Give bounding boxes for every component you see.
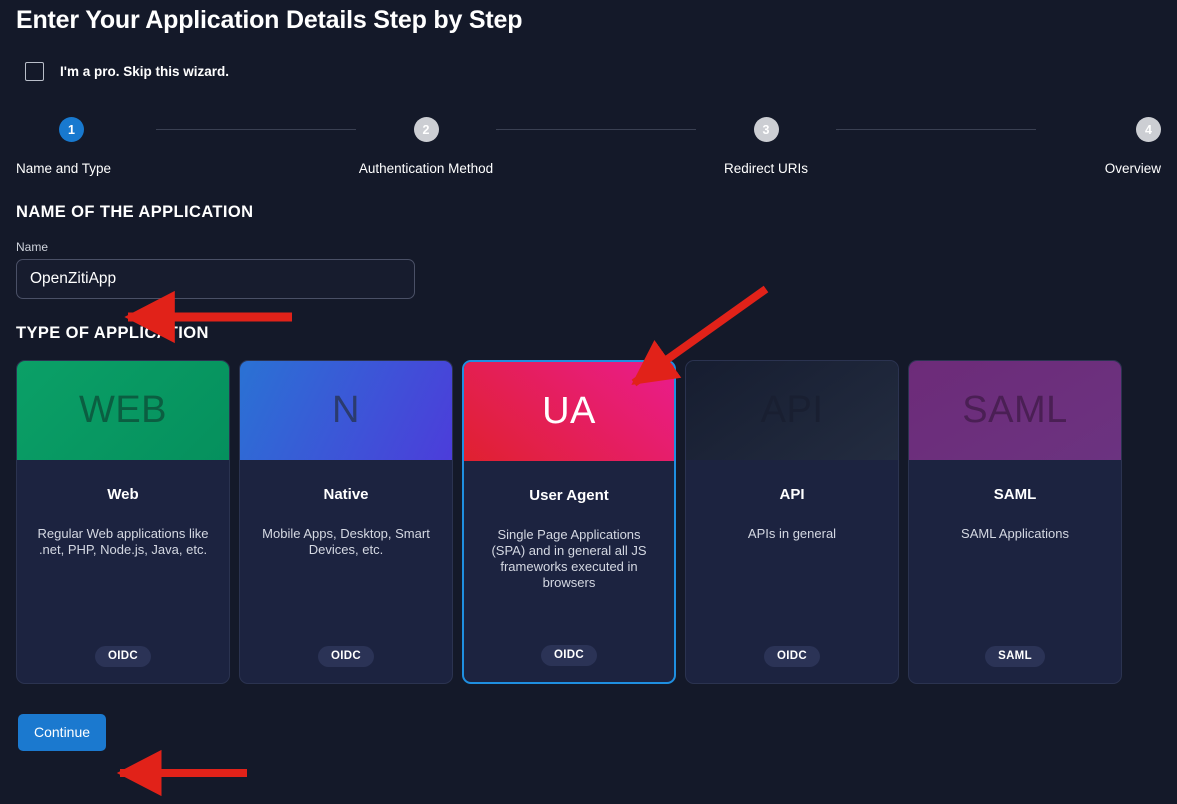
- app-type-card-user-agent[interactable]: UA User Agent Single Page Applications (…: [462, 360, 676, 684]
- step-1-label: Name and Type: [16, 161, 111, 176]
- step-1-bubble[interactable]: 1: [59, 117, 84, 142]
- wizard-page: Enter Your Application Details Step by S…: [0, 0, 1177, 804]
- stepper-connector-1: [156, 129, 356, 130]
- app-type-card-api[interactable]: API API APIs in general OIDC: [685, 360, 899, 684]
- wizard-stepper: 1 Name and Type 2 Authentication Method …: [16, 117, 1161, 185]
- stepper-step-2[interactable]: 2 Authentication Method: [356, 117, 496, 176]
- application-type-card-list: WEB Web Regular Web applications like .n…: [16, 360, 1161, 684]
- name-section-heading: NAME OF THE APPLICATION: [16, 203, 1161, 222]
- user-agent-banner-icon: UA: [464, 362, 674, 461]
- saml-card-title: SAML: [994, 486, 1037, 503]
- app-type-card-saml[interactable]: SAML SAML SAML Applications SAML: [908, 360, 1122, 684]
- api-card-protocol-badge: OIDC: [764, 646, 820, 667]
- continue-button[interactable]: Continue: [18, 714, 106, 751]
- web-banner-icon: WEB: [17, 361, 229, 460]
- stepper-step-4[interactable]: 4 Overview: [1036, 117, 1161, 176]
- saml-card-body: SAML SAML Applications SAML: [909, 460, 1121, 683]
- step-4-label: Overview: [1105, 161, 1161, 176]
- api-card-title: API: [779, 486, 804, 503]
- user-agent-card-body: User Agent Single Page Applications (SPA…: [464, 461, 674, 682]
- stepper-connector-2: [496, 129, 696, 130]
- web-card-title: Web: [107, 486, 138, 503]
- saml-card-description: SAML Applications: [961, 526, 1069, 542]
- saml-banner-icon: SAML: [909, 361, 1121, 460]
- step-4-bubble[interactable]: 4: [1136, 117, 1161, 142]
- web-card-body: Web Regular Web applications like .net, …: [17, 460, 229, 683]
- native-card-protocol-badge: OIDC: [318, 646, 374, 667]
- user-agent-card-description: Single Page Applications (SPA) and in ge…: [479, 527, 659, 591]
- skip-wizard-row: I'm a pro. Skip this wizard.: [25, 62, 1161, 81]
- stepper-track: 1 Name and Type 2 Authentication Method …: [16, 117, 1161, 176]
- stepper-connector-3: [836, 129, 1036, 130]
- skip-wizard-checkbox[interactable]: [25, 62, 44, 81]
- stepper-step-3[interactable]: 3 Redirect URIs: [696, 117, 836, 176]
- app-type-card-native[interactable]: N Native Mobile Apps, Desktop, Smart Dev…: [239, 360, 453, 684]
- api-banner-icon: API: [686, 361, 898, 460]
- name-field-label: Name: [16, 240, 1161, 254]
- native-card-description: Mobile Apps, Desktop, Smart Devices, etc…: [256, 526, 436, 558]
- web-card-protocol-badge: OIDC: [95, 646, 151, 667]
- type-section-heading: TYPE OF APPLICATION: [16, 324, 1161, 343]
- native-banner-icon: N: [240, 361, 452, 460]
- api-card-body: API APIs in general OIDC: [686, 460, 898, 683]
- app-type-card-web[interactable]: WEB Web Regular Web applications like .n…: [16, 360, 230, 684]
- user-agent-card-title: User Agent: [529, 487, 608, 504]
- name-input[interactable]: [16, 259, 415, 299]
- skip-wizard-label[interactable]: I'm a pro. Skip this wizard.: [60, 64, 229, 79]
- saml-card-protocol-badge: SAML: [985, 646, 1045, 667]
- native-card-body: Native Mobile Apps, Desktop, Smart Devic…: [240, 460, 452, 683]
- stepper-step-1[interactable]: 1 Name and Type: [16, 117, 156, 176]
- step-2-bubble[interactable]: 2: [414, 117, 439, 142]
- native-card-title: Native: [323, 486, 368, 503]
- api-card-description: APIs in general: [748, 526, 836, 542]
- page-title: Enter Your Application Details Step by S…: [16, 0, 1161, 35]
- user-agent-card-protocol-badge: OIDC: [541, 645, 597, 666]
- step-2-label: Authentication Method: [359, 161, 493, 176]
- step-3-bubble[interactable]: 3: [754, 117, 779, 142]
- step-3-label: Redirect URIs: [724, 161, 808, 176]
- web-card-description: Regular Web applications like .net, PHP,…: [33, 526, 213, 558]
